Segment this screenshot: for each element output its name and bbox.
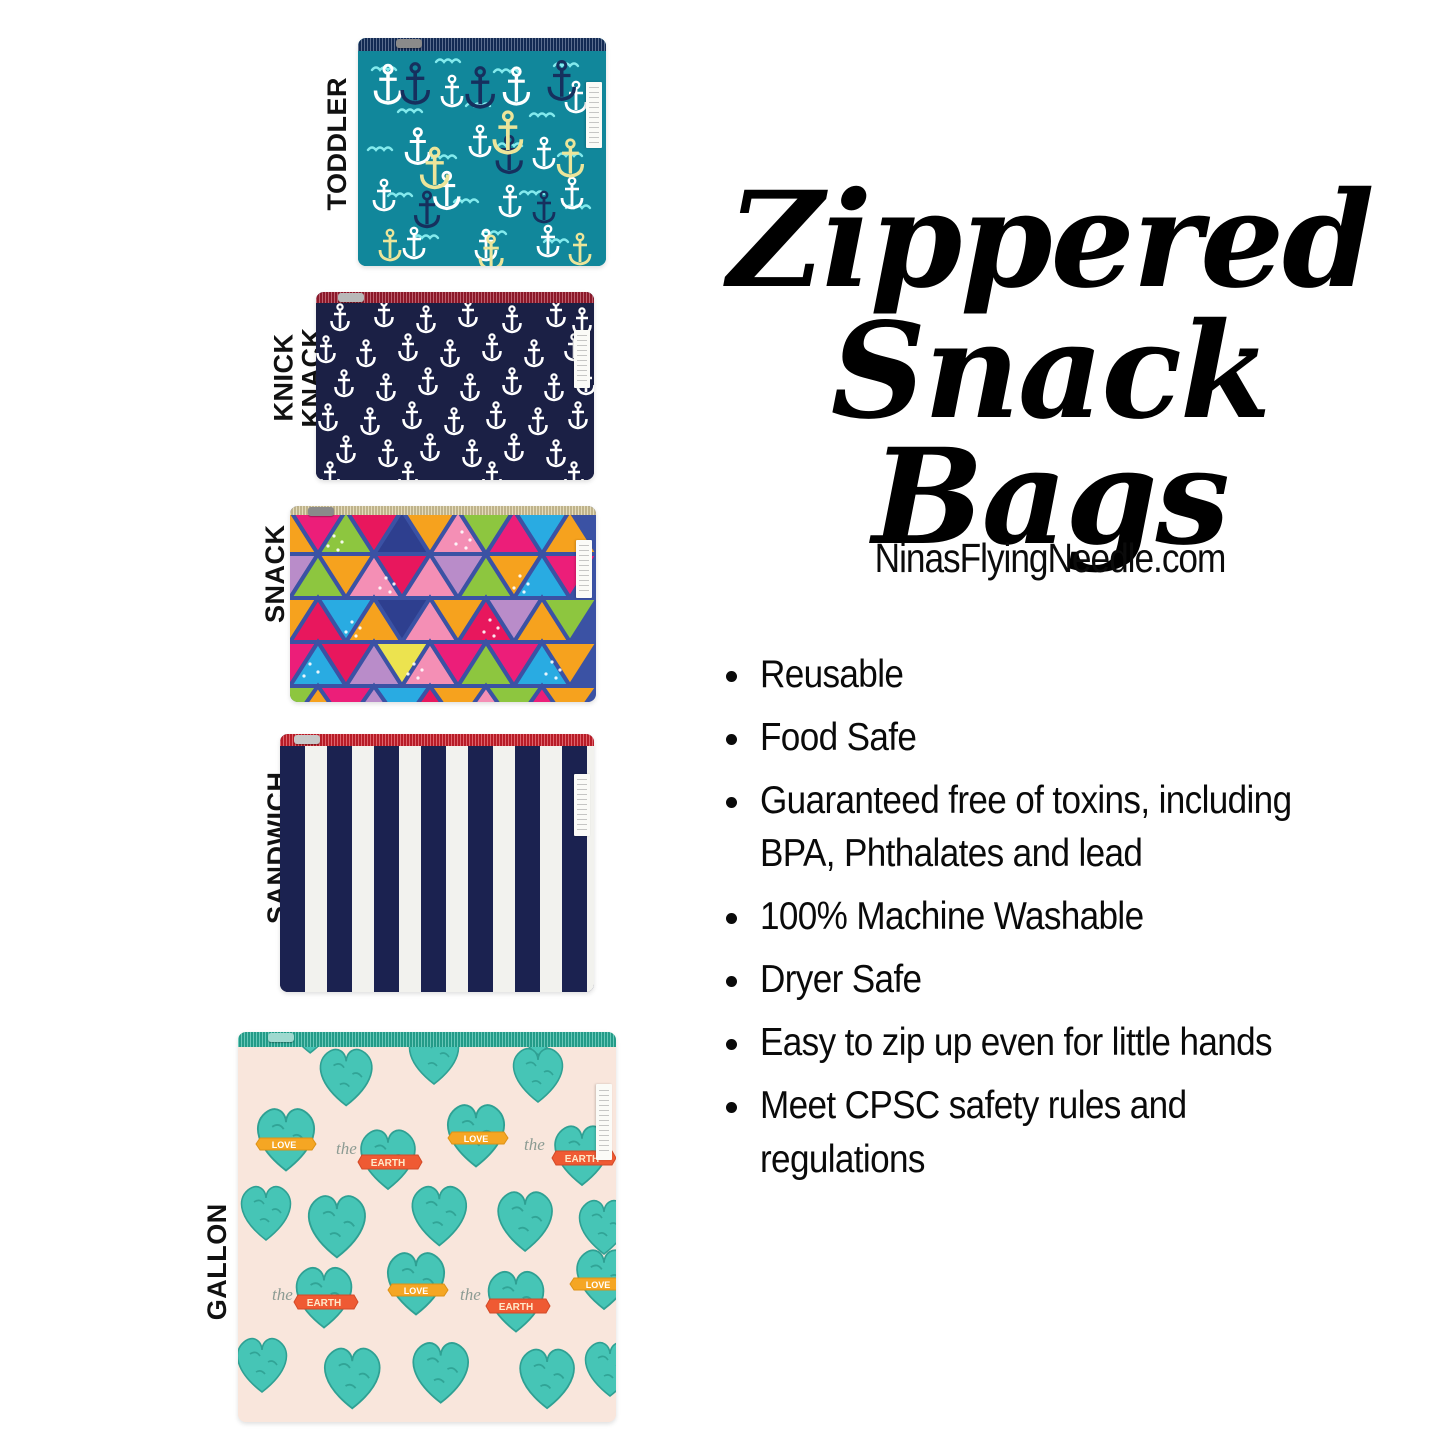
website-url[interactable]: NinasFlyingNeedle.com	[723, 535, 1377, 582]
svg-text:the: the	[524, 1135, 545, 1154]
list-item: Food Safe	[718, 711, 1418, 765]
care-tag-sandwich	[574, 774, 590, 836]
svg-text:the: the	[460, 1285, 481, 1304]
care-tag-gallon	[596, 1084, 612, 1160]
feature-label: Reusable	[760, 648, 903, 702]
zipper-gallon[interactable]	[238, 1032, 616, 1047]
care-tag-toddler	[586, 82, 602, 148]
bullet-icon	[726, 913, 737, 924]
zipper-pull-toddler[interactable]	[396, 39, 422, 48]
feature-list: Reusable Food Safe Guaranteed free of to…	[718, 648, 1418, 1195]
title-line-1: Zippered	[670, 178, 1430, 305]
bag-fabric-knick-knack	[316, 292, 594, 480]
zipper-snack[interactable]	[290, 506, 596, 515]
bullet-icon	[726, 671, 737, 682]
heart-pattern-svg: LOVE EARTH	[238, 1032, 616, 1422]
bullet-icon	[726, 1039, 737, 1050]
poster-canvas: TODDLER	[0, 0, 1440, 1440]
bag-fabric-toddler	[358, 38, 606, 266]
feature-label: Guaranteed free of toxins, including BPA…	[760, 774, 1352, 882]
size-label-toddler: TODDLER	[324, 54, 352, 234]
care-tag-knick-knack	[574, 330, 590, 388]
bullet-icon	[726, 976, 737, 987]
page-title: Zippered Snack Bags	[670, 178, 1430, 562]
feature-label: Food Safe	[760, 711, 916, 765]
product-bag-sandwich[interactable]	[280, 734, 594, 992]
svg-text:the: the	[272, 1285, 293, 1304]
list-item: Guaranteed free of toxins, including BPA…	[718, 774, 1418, 882]
product-bag-knick-knack[interactable]	[316, 292, 594, 480]
product-bag-gallon[interactable]: LOVE EARTH	[238, 1032, 616, 1422]
zipper-pull-snack[interactable]	[308, 507, 334, 516]
list-item: Reusable	[718, 648, 1418, 702]
marketing-text-column: Zippered Snack Bags NinasFlyingNeedle.co…	[660, 0, 1440, 1440]
zipper-pull-gallon[interactable]	[268, 1033, 294, 1042]
title-line-2: Snack Bags	[670, 309, 1430, 562]
triangle-pattern-svg	[290, 506, 596, 702]
bag-fabric-snack	[290, 506, 596, 702]
list-item: Meet CPSC safety rules and regulations	[718, 1079, 1418, 1187]
bullet-icon	[726, 1102, 737, 1113]
bag-fabric-gallon: LOVE EARTH	[238, 1032, 616, 1422]
list-item: Easy to zip up even for little hands	[718, 1016, 1418, 1070]
bag-fabric-sandwich	[280, 734, 594, 992]
zipper-sandwich[interactable]	[280, 734, 594, 746]
size-label-snack: SNACK	[262, 494, 290, 654]
feature-label: 100% Machine Washable	[760, 890, 1143, 944]
feature-label: Easy to zip up even for little hands	[760, 1016, 1272, 1070]
product-bag-toddler[interactable]	[358, 38, 606, 266]
feature-label: Dryer Safe	[760, 953, 921, 1007]
care-tag-snack	[576, 540, 592, 598]
white-anchor-pattern-svg	[316, 292, 594, 480]
list-item: Dryer Safe	[718, 953, 1418, 1007]
zipper-pull-sandwich[interactable]	[294, 735, 320, 744]
bullet-icon	[726, 797, 737, 808]
zipper-pull-knick-knack[interactable]	[338, 293, 364, 302]
bullet-icon	[726, 734, 737, 745]
size-label-gallon: GALLON	[204, 1172, 232, 1352]
anchor-pattern-svg	[358, 38, 606, 266]
product-bag-snack[interactable]	[290, 506, 596, 702]
feature-label: Meet CPSC safety rules and regulations	[760, 1079, 1352, 1187]
svg-text:the: the	[336, 1139, 357, 1158]
product-photo-column: TODDLER	[0, 0, 660, 1440]
list-item: 100% Machine Washable	[718, 890, 1418, 944]
